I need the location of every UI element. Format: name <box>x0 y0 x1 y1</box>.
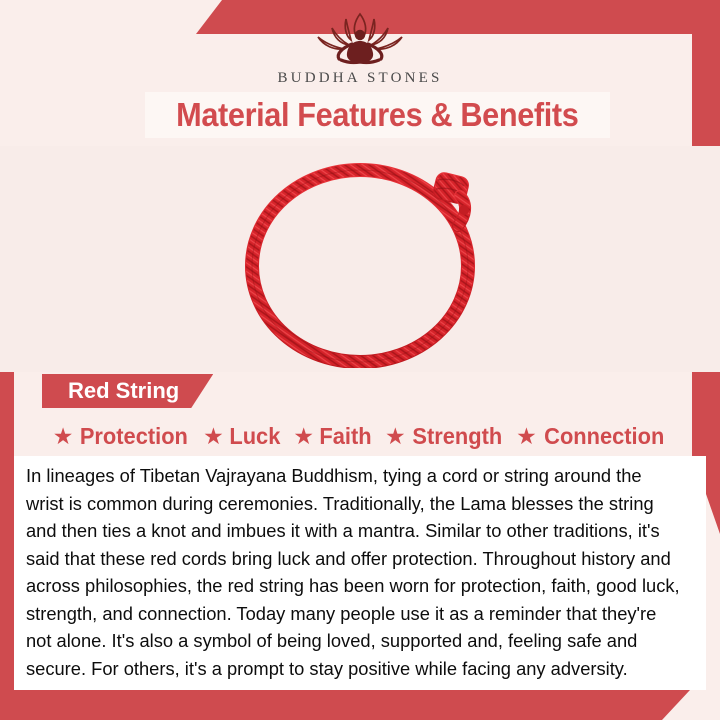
description-text: In lineages of Tibetan Vajrayana Buddhis… <box>26 462 682 682</box>
brand-wordmark: BUDDHA STONES <box>0 70 720 87</box>
frame-bottom-bar <box>0 690 690 720</box>
title-band: Material Features & Benefits <box>145 92 610 138</box>
feature-item-strength: ★ Strength <box>385 423 504 450</box>
material-label-banner: Red String <box>42 374 213 408</box>
page-title: Material Features & Benefits <box>176 96 578 134</box>
feature-item-protection: ★ Protection <box>53 423 191 450</box>
star-icon: ★ <box>203 425 224 448</box>
feature-item-luck: ★ Luck <box>203 423 281 450</box>
brand-logo: BUDDHA STONES <box>0 10 720 87</box>
feature-item-faith: ★ Faith <box>293 423 373 450</box>
feature-item-connection: ★ Connection <box>516 423 667 450</box>
features-list: ★ Protection ★ Luck ★ Faith ★ Strength ★… <box>14 416 706 456</box>
star-icon: ★ <box>385 425 406 448</box>
product-image-area <box>0 146 720 372</box>
red-string-bracelet-image <box>232 158 502 368</box>
description-panel: In lineages of Tibetan Vajrayana Buddhis… <box>14 456 706 690</box>
star-icon: ★ <box>293 425 314 448</box>
feature-label: Protection <box>80 423 188 450</box>
feature-label: Connection <box>544 423 664 450</box>
infographic-card: BUDDHA STONES Material Features & Benefi… <box>0 0 720 720</box>
feature-label: Faith <box>319 423 371 450</box>
material-name: Red String <box>68 378 179 404</box>
lotus-meditation-figure-icon <box>308 10 412 68</box>
frame-left-strip <box>0 330 14 690</box>
feature-label: Luck <box>229 423 280 450</box>
star-icon: ★ <box>53 425 74 448</box>
star-icon: ★ <box>516 425 537 448</box>
feature-label: Strength <box>412 423 502 450</box>
